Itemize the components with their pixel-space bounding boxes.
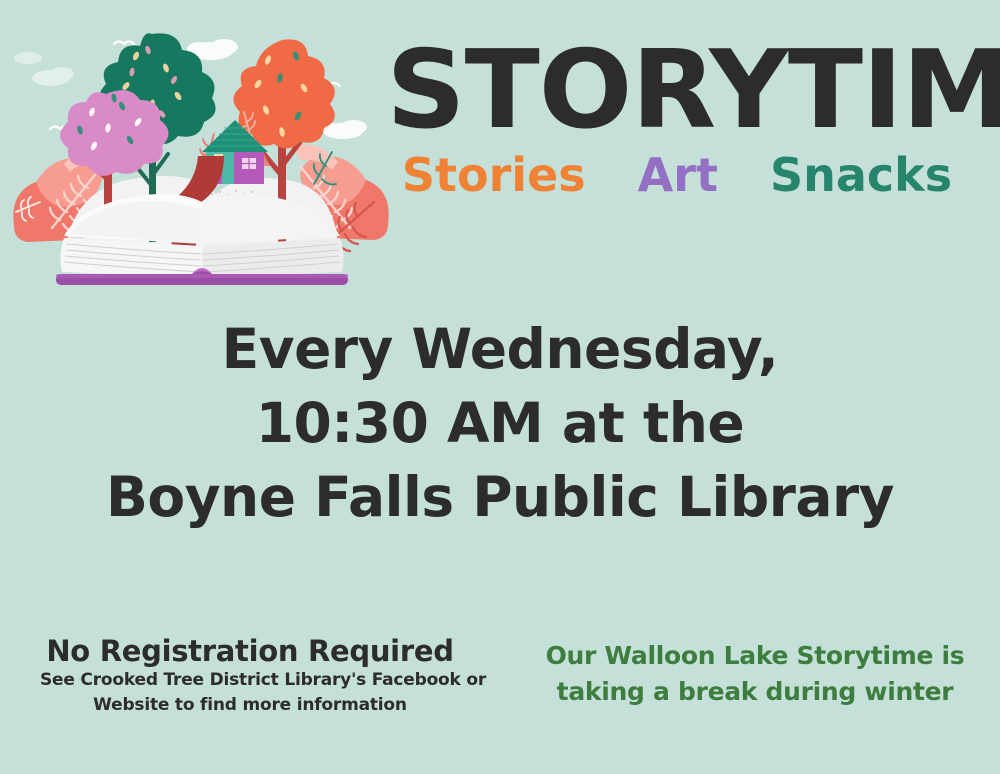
walloon-notice-line-1: Our Walloon Lake Storytime is [540,638,970,674]
registration-detail-line-2: Website to find more information [40,693,460,718]
cloud-icon [32,67,74,86]
subtitle-word-art: Art [638,150,718,201]
subtitle-word-stories: Stories [402,150,586,201]
event-detail-line-3: Boyne Falls Public Library [0,460,1000,534]
event-details: Every Wednesday, 10:30 AM at the Boyne F… [0,312,1000,534]
event-detail-line-2: 10:30 AM at the [0,386,1000,460]
registration-detail-line-1: See Crooked Tree District Library's Face… [40,668,460,693]
page-title: STORYTIME [386,36,967,146]
bird-icon [114,42,134,45]
event-detail-line-1: Every Wednesday, [0,312,1000,386]
storytime-poster: STORYTIME Stories Art Snacks Every Wedne… [0,0,1000,774]
footer-walloon-notice: Our Walloon Lake Storytime is taking a b… [540,638,970,710]
headline-block: STORYTIME Stories Art Snacks [392,36,962,201]
open-book-popup-illustration [6,16,396,296]
subtitle-row: Stories Art Snacks [392,150,962,201]
registration-heading: No Registration Required [40,634,460,668]
footer-registration-note: No Registration Required See Crooked Tre… [40,634,460,718]
subtitle-word-snacks: Snacks [770,150,952,201]
walloon-notice-line-2: taking a break during winter [540,674,970,710]
cloud-icon [14,52,42,64]
